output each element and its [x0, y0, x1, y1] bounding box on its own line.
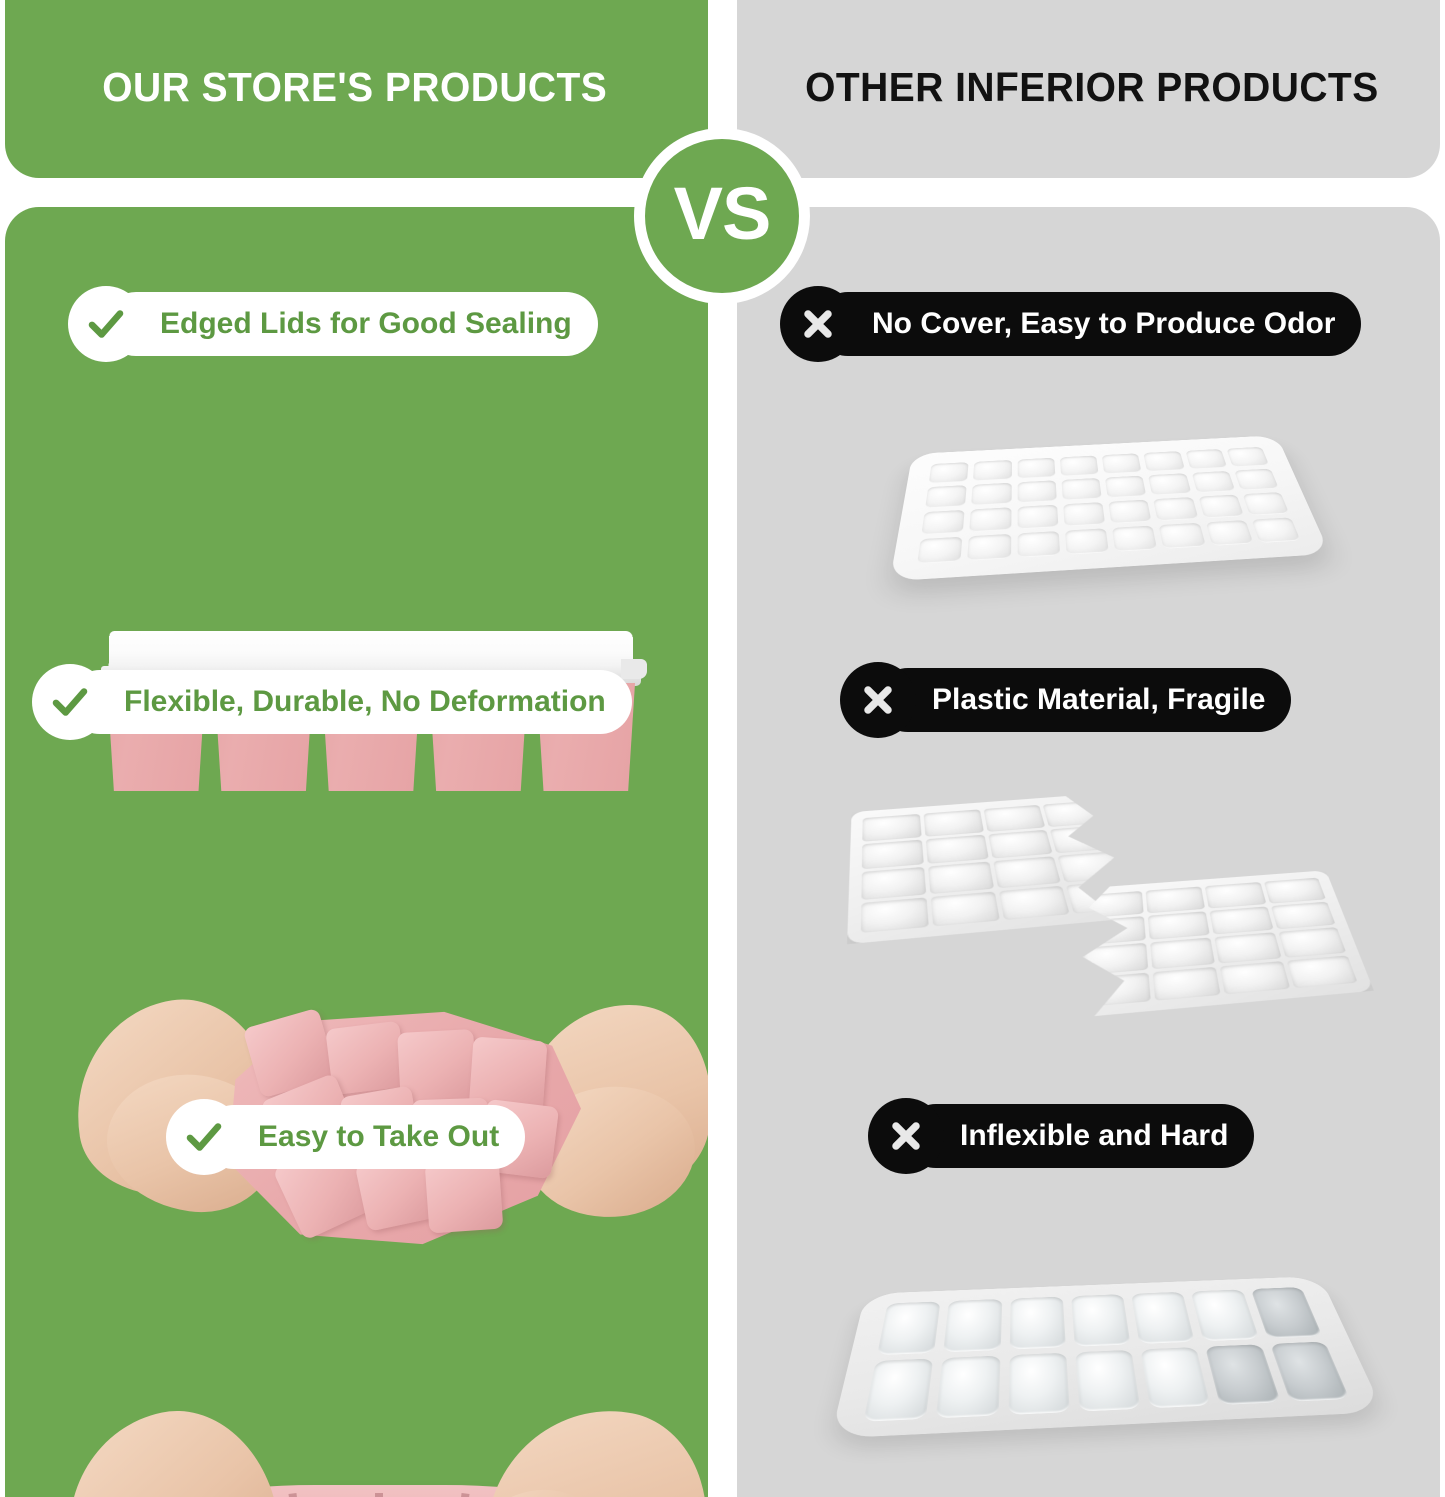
tray-cavity — [1147, 911, 1210, 940]
tray-cavity — [1108, 500, 1151, 524]
check-icon — [32, 664, 108, 740]
tray-cavity — [1191, 471, 1235, 493]
check-icon — [68, 286, 144, 362]
tray-divider — [444, 1493, 469, 1497]
left-column-title: OUR STORE'S PRODUCTS — [102, 64, 607, 111]
tray-cavity — [1105, 476, 1147, 498]
tray-cavity — [928, 861, 994, 893]
right-column-header: OTHER INFERIOR PRODUCTS — [737, 0, 1440, 178]
ice-cube-cell — [1191, 1289, 1259, 1341]
tray-cavity — [861, 897, 929, 933]
tray-cavity — [1214, 932, 1281, 963]
ice-cube-cell — [1140, 1347, 1210, 1409]
tray-cavity — [969, 507, 1011, 532]
ice-cube-cell — [1075, 1350, 1140, 1412]
ice-cube-cell — [1009, 1297, 1065, 1350]
drawback-badge-body: Inflexible and Hard — [904, 1104, 1254, 1168]
tray-cavity — [929, 462, 969, 483]
tray-cavity — [921, 510, 965, 535]
tray-cavity — [1251, 517, 1300, 543]
ice-cube-cell — [1250, 1287, 1322, 1338]
left-product-panel — [5, 207, 708, 1497]
tray-cavity — [984, 805, 1046, 832]
tray-cavity — [1153, 497, 1198, 521]
tray-cavity — [1145, 886, 1205, 913]
tray-cavity — [1270, 901, 1335, 929]
ice-cube-cell — [1205, 1344, 1280, 1405]
drawback-badge-inflexible-hard: Inflexible and Hard — [868, 1104, 1254, 1168]
tray-cavity — [993, 856, 1061, 888]
drawback-badge-plastic-fragile: Plastic Material, Fragile — [840, 668, 1291, 732]
feature-badge-body: Flexible, Durable, No Deformation — [68, 670, 632, 734]
tray-cavity — [1220, 961, 1290, 995]
x-icon — [868, 1098, 944, 1174]
tray-cavity — [1083, 972, 1150, 1007]
left-column-header: OUR STORE'S PRODUCTS — [5, 0, 708, 178]
drawback-label: No Cover, Easy to Produce Odor — [872, 309, 1335, 339]
x-icon — [840, 662, 916, 738]
tray-cavity — [1063, 502, 1105, 526]
ice-cube-cell — [1131, 1292, 1195, 1344]
tray-divider — [375, 1493, 383, 1497]
comparison-infographic: OUR STORE'S PRODUCTS OTHER INFERIOR PROD… — [0, 0, 1445, 1497]
tray-cavity — [1017, 531, 1060, 558]
figure-white-plastic-tray-no-lid — [905, 405, 1305, 595]
tray-cavity — [1148, 473, 1191, 495]
tray-cavity — [1209, 906, 1273, 934]
ice-cube-cell — [1071, 1294, 1131, 1346]
tray-cavity — [926, 834, 989, 864]
tray-cavity — [1017, 480, 1056, 503]
tray-cavity — [862, 839, 924, 869]
tray-cube-bump — [425, 1159, 504, 1234]
drawback-badge-no-cover: No Cover, Easy to Produce Odor — [780, 292, 1361, 356]
tray-cavity — [924, 809, 984, 836]
tray-cavity — [967, 534, 1010, 561]
ice-cube-cell — [943, 1299, 1001, 1352]
ice-cube-cell — [877, 1301, 941, 1355]
tray-cavity — [1060, 455, 1099, 476]
ice-cube-cell — [863, 1358, 933, 1422]
tray-cavity — [1057, 851, 1126, 882]
figure-rigid-ice-cube-tray — [853, 1235, 1353, 1461]
feature-label: Easy to Take Out — [258, 1122, 499, 1152]
tray-cavity — [988, 829, 1053, 858]
feature-label: Edged Lids for Good Sealing — [160, 309, 572, 339]
x-icon — [780, 286, 856, 362]
drawback-label: Plastic Material, Fragile — [932, 685, 1265, 715]
tray-divider — [288, 1493, 313, 1497]
drawback-badge-body: No Cover, Easy to Produce Odor — [816, 292, 1361, 356]
right-column-title: OTHER INFERIOR PRODUCTS — [805, 64, 1379, 111]
figure-hands-bending-tray — [65, 1407, 708, 1497]
tray-cavity — [1102, 453, 1142, 474]
check-icon — [166, 1099, 242, 1175]
feature-badge-body: Easy to Take Out — [202, 1105, 525, 1169]
vs-badge: VS — [634, 128, 810, 304]
tray-cavity — [1263, 878, 1325, 904]
tray-cavity — [1084, 943, 1148, 975]
feature-badge-body: Edged Lids for Good Sealing — [104, 292, 598, 356]
tray-cavity — [1065, 528, 1109, 554]
drawback-badge-body: Plastic Material, Fragile — [876, 668, 1291, 732]
right-hand — [473, 1390, 708, 1497]
ice-cube-tray — [830, 1276, 1383, 1438]
tray-cavity — [1159, 523, 1206, 549]
left-hand — [47, 1393, 294, 1497]
white-tray — [890, 435, 1330, 581]
drawback-label: Inflexible and Hard — [960, 1121, 1228, 1151]
lid-top-surface — [109, 631, 634, 669]
tray-cavity — [862, 814, 921, 842]
tray-cavity — [1152, 966, 1220, 1000]
tray-cavity — [971, 483, 1011, 506]
tray-cavity — [1205, 882, 1266, 908]
tray-cavity — [861, 867, 926, 900]
tray-cavity — [1150, 937, 1215, 968]
tray-cavity — [999, 885, 1070, 920]
tray-cavity — [1017, 458, 1055, 479]
tray-cavity — [1043, 800, 1106, 826]
tray-cavity — [1242, 492, 1289, 516]
tray-cavity — [1205, 520, 1253, 546]
figure-broken-plastic-tray — [845, 757, 1365, 1037]
tray-cavity — [1112, 526, 1157, 552]
tray-cavity — [1226, 447, 1269, 467]
feature-badge-flexible-durable: Flexible, Durable, No Deformation — [32, 670, 632, 734]
feature-label: Flexible, Durable, No Deformation — [124, 687, 606, 717]
vs-label: VS — [674, 177, 771, 251]
broken-tray-piece-right — [1069, 870, 1374, 1018]
broken-tray-piece-left — [847, 793, 1154, 944]
tray-cavity — [973, 460, 1011, 481]
tray-cavity — [1286, 955, 1358, 988]
tray-cavity — [1017, 505, 1058, 530]
ice-cube-cell — [1008, 1352, 1070, 1415]
tray-cavity — [1185, 449, 1227, 469]
tray-cavity — [1061, 478, 1102, 501]
tray-cavity — [1234, 469, 1279, 491]
feature-badge-easy-take-out: Easy to Take Out — [166, 1105, 525, 1169]
right-product-panel — [737, 207, 1440, 1497]
tray-cavity — [917, 537, 963, 564]
ice-cube-cell — [936, 1355, 1000, 1418]
tray-cavity — [931, 891, 1000, 926]
tray-cavity — [1198, 495, 1244, 519]
ice-cube-cell — [1270, 1341, 1350, 1402]
tray-cavity — [1143, 451, 1184, 472]
tray-cavity — [1050, 825, 1116, 854]
feature-badge-edged-lids: Edged Lids for Good Sealing — [68, 292, 598, 356]
tray-cavity — [925, 485, 967, 508]
tray-cavity — [1278, 927, 1346, 957]
